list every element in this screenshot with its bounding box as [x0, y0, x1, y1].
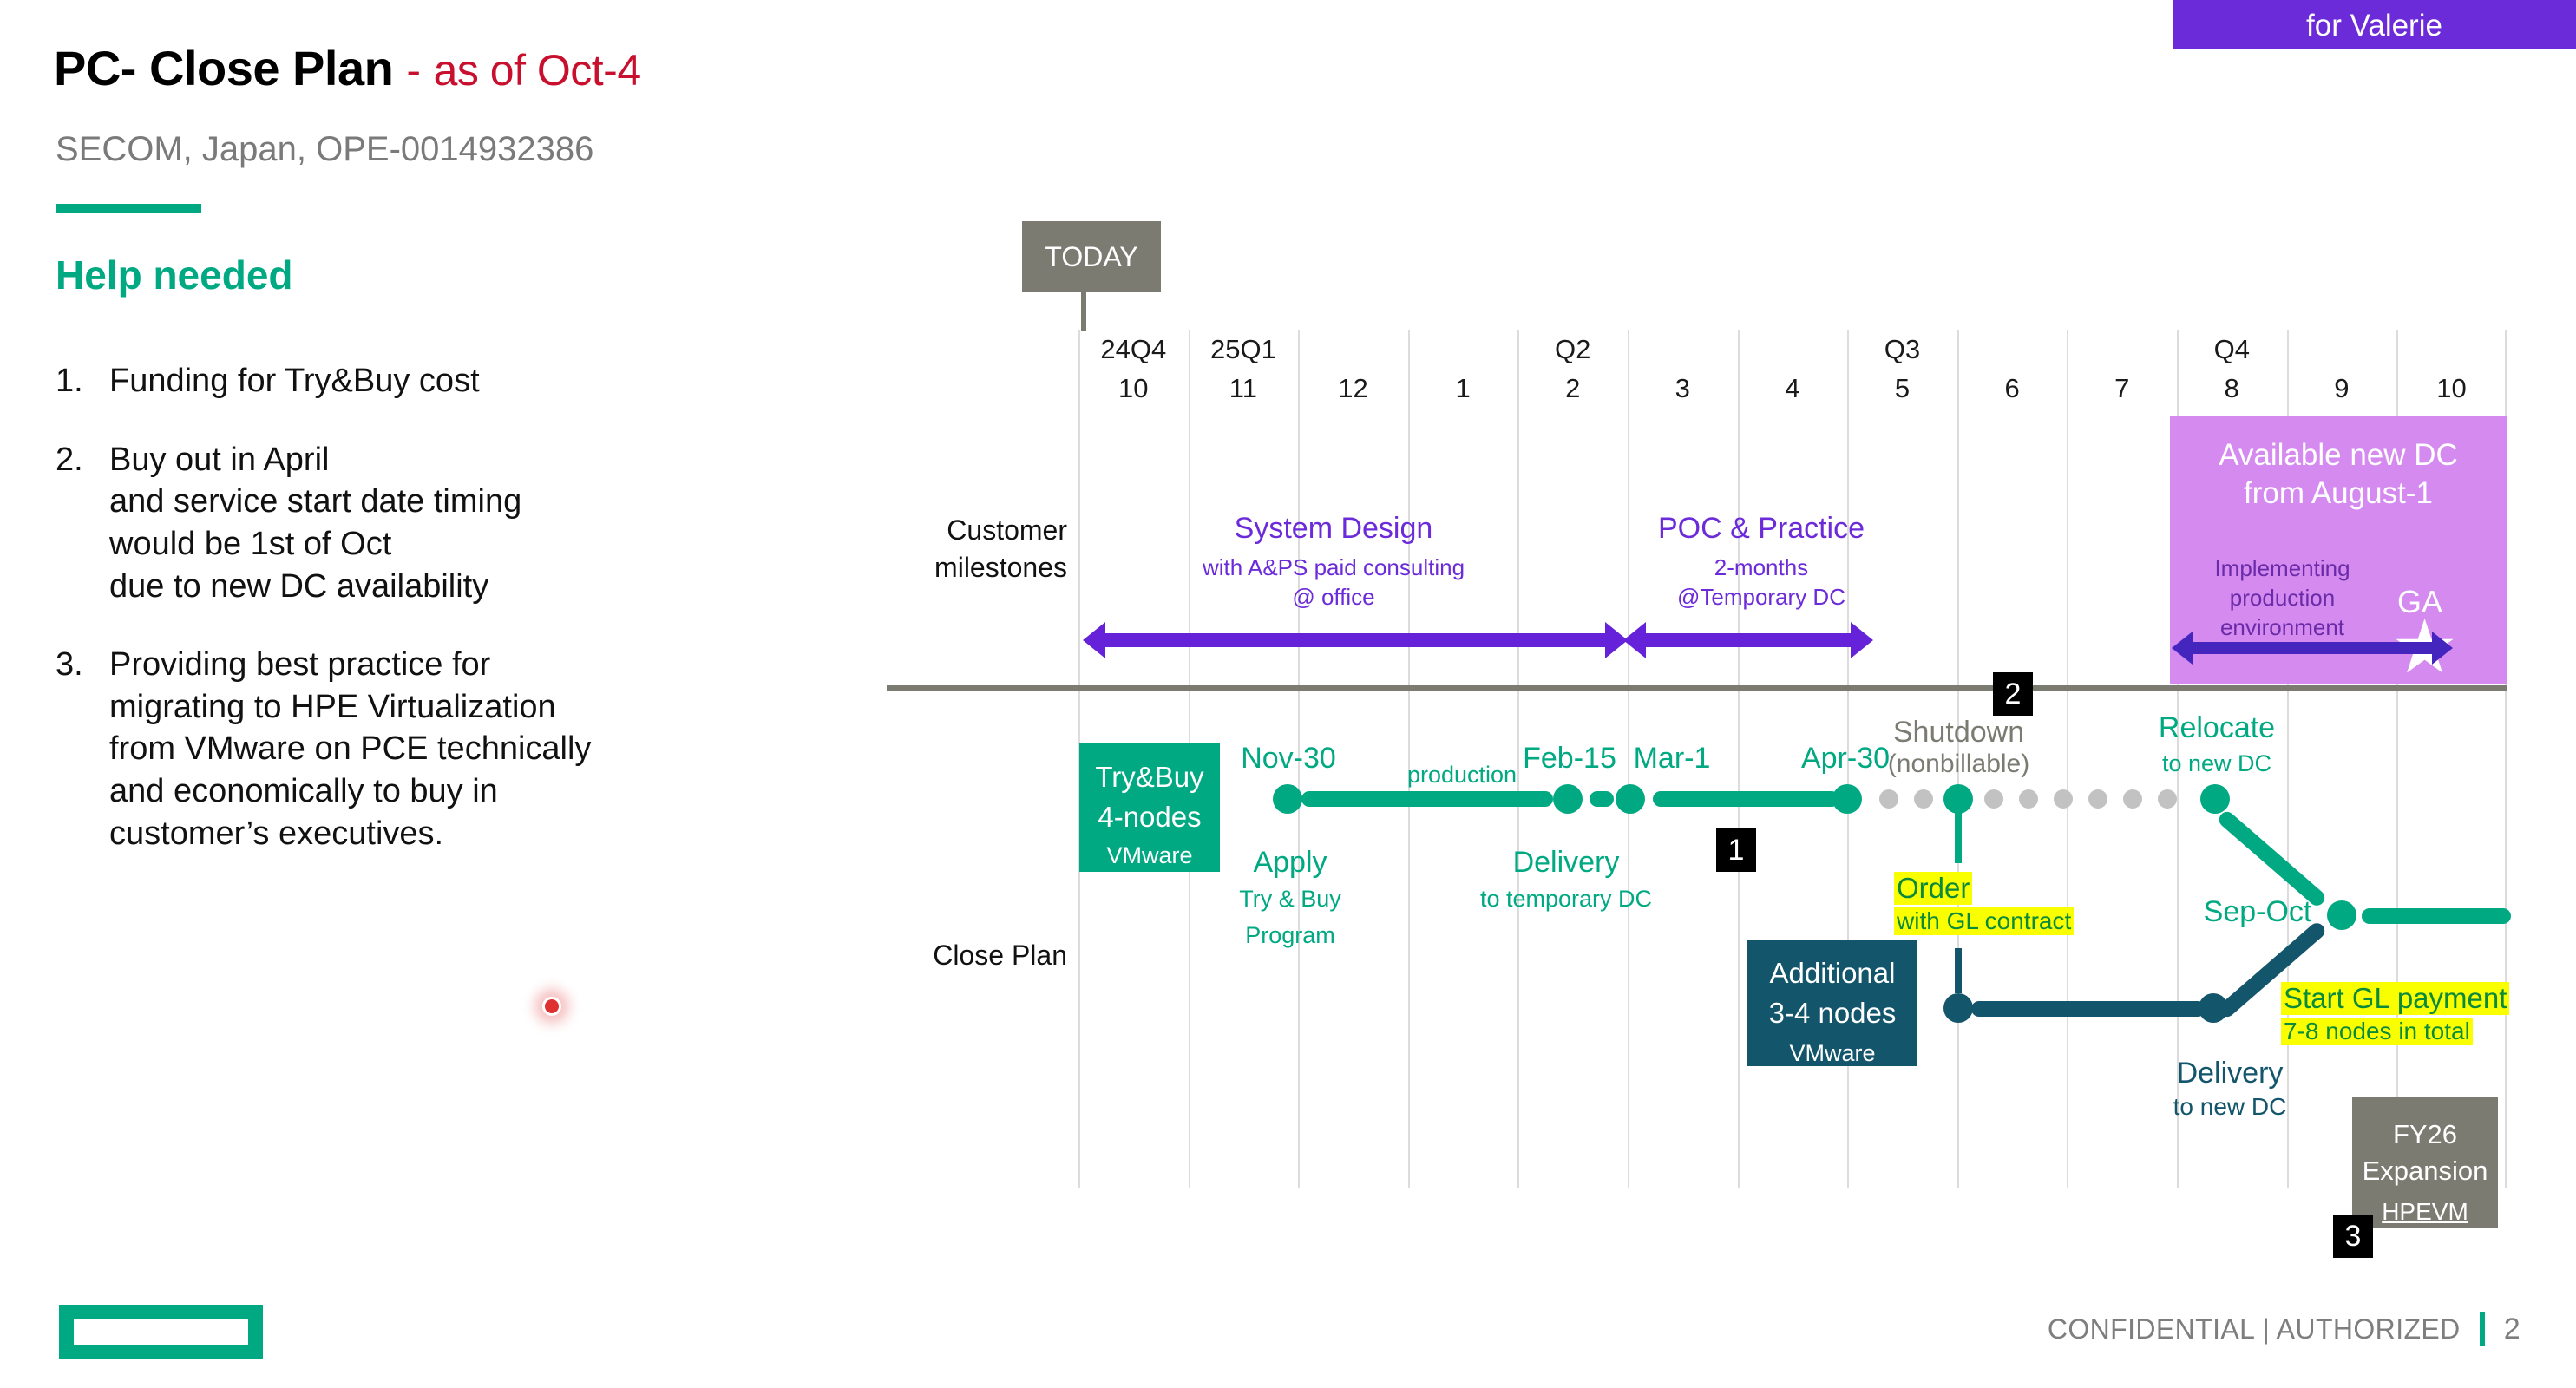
month-label: 10: [1078, 373, 1189, 404]
month-label: 8: [2177, 373, 2287, 404]
label-delivery-temp: Delivery: [1458, 846, 1675, 880]
track-bar-mar-to-apr: [1653, 791, 1839, 807]
fy26-line3: HPEVM: [2352, 1198, 2498, 1226]
trybuy-line1: Try&Buy: [1079, 757, 1220, 797]
quarter-label: Q2: [1517, 334, 1628, 365]
today-badge: TODAY: [1022, 221, 1161, 292]
row-label-line: milestones: [876, 549, 1067, 586]
list-item-line: and economically to buy in: [109, 770, 591, 813]
dc-box-note-line: Implementing: [2189, 554, 2376, 584]
row-label-close-plan: Close Plan: [876, 937, 1067, 974]
mouse-cursor-indicator: [542, 997, 561, 1016]
month-label: 1: [1408, 373, 1518, 404]
list-item: 3. Providing best practice for migrating…: [56, 644, 880, 854]
step-badge-3: 3: [2333, 1214, 2373, 1258]
track-bar-feb-to-mar: [1590, 791, 1614, 807]
page-subtitle: SECOM, Japan, OPE-0014932386: [56, 130, 593, 169]
additional-nodes-bar: [1971, 1001, 2206, 1017]
shutdown-line1: Shutdown: [1848, 716, 2069, 750]
label-apply-sub1: Try & Buy: [1208, 883, 1373, 914]
dc-box-line1: Available new DC: [2170, 436, 2507, 475]
label-apply-sub2: Program: [1208, 920, 1373, 951]
order-note-line1: Order: [1894, 872, 1972, 905]
list-item-line: would be 1st of Oct: [109, 523, 521, 566]
milestone-dot-apr-30: [1832, 784, 1862, 814]
help-needed-list: 1. Funding for Try&Buy cost 2. Buy out i…: [56, 360, 880, 891]
milestone-system-design: System Design with A&PS paid consulting …: [1147, 512, 1520, 612]
step-badge-1: 1: [1716, 828, 1756, 872]
list-item: 2. Buy out in April and service start da…: [56, 439, 880, 608]
milestone-title: POC & Practice: [1592, 512, 1930, 546]
dc-box-note: Implementing production environment: [2189, 554, 2376, 642]
quarter-label: 24Q4: [1078, 334, 1189, 365]
gl-payment-note: Start GL payment 7-8 nodes in total: [2281, 982, 2524, 1045]
poc-practice-arrow: [1644, 633, 1852, 647]
order-note-line2: with GL contract: [1894, 907, 2074, 935]
footer: CONFIDENTIAL | AUTHORIZED 2: [2048, 1312, 2520, 1346]
order-note: Order with GL contract: [1894, 872, 2102, 935]
list-item-line: and service start date timing: [109, 481, 521, 523]
milestone-dot-relocate: [2200, 784, 2230, 814]
shutdown-stem-lower: [1955, 948, 1962, 993]
milestone-title: System Design: [1147, 512, 1520, 546]
month-label: 4: [1738, 373, 1848, 404]
month-label: 9: [2287, 373, 2397, 404]
title-asof: as of Oct-4: [434, 46, 641, 95]
valerie-badge: as of October-4 for Valerie: [2173, 0, 2576, 49]
valerie-badge-line2: for Valerie: [2173, 5, 2576, 47]
month-label: 2: [1517, 373, 1628, 404]
list-item-body: Providing best practice for migrating to…: [109, 644, 591, 854]
additional-line2: 3-4 nodes: [1747, 993, 1917, 1033]
milestone-sub2: @ office: [1147, 582, 1520, 612]
title-dash: -: [406, 46, 420, 95]
title-main: PC- Close Plan: [54, 41, 393, 95]
milestone-sub2: @Temporary DC: [1592, 582, 1930, 612]
dc-box-note-line: environment: [2189, 613, 2376, 643]
list-item: 1. Funding for Try&Buy cost: [56, 360, 880, 403]
today-stem: [1081, 292, 1086, 331]
additional-nodes-start-dot: [1943, 993, 1973, 1023]
label-apply: Apply: [1208, 846, 1373, 880]
label-delivery-temp-sub: to temporary DC: [1432, 883, 1701, 914]
fy26-expansion-box: FY26 Expansion HPEVM: [2352, 1097, 2498, 1228]
date-label-nov-30: Nov-30: [1206, 742, 1371, 776]
system-design-arrow: [1104, 633, 1607, 647]
month-label: 7: [2067, 373, 2177, 404]
step-badge-2: 2: [1993, 672, 2033, 716]
additional-nodes-box: Additional 3-4 nodes VMware: [1747, 940, 1917, 1066]
footer-separator: [2480, 1312, 2485, 1346]
fy26-line1: FY26: [2352, 1116, 2498, 1153]
quarter-label: 25Q1: [1189, 334, 1299, 365]
track-bar-sep-oct-right: [2362, 908, 2511, 924]
milestone-poc-practice: POC & Practice 2-months @Temporary DC: [1592, 512, 1930, 612]
hpe-logo: [59, 1305, 263, 1359]
month-label: 12: [1298, 373, 1408, 404]
list-item-line: due to new DC availability: [109, 566, 521, 608]
timeline-month-header: 10 11 12 1 2 3 4 5 6 7 8 9 10: [1078, 373, 2507, 412]
milestone-dot-shutdown: [1943, 784, 1973, 814]
row-label-customer-milestones: Customer milestones: [876, 512, 1067, 586]
relocate-sub: to new DC: [2130, 748, 2304, 779]
fy26-line2: Expansion: [2352, 1153, 2498, 1189]
delivery-new-dc-sub: to new DC: [2130, 1093, 2330, 1121]
month-label: 11: [1189, 373, 1299, 404]
month-label: 10: [2396, 373, 2507, 404]
list-item-line: Buy out in April: [109, 439, 521, 481]
dc-box-line2: from August-1: [2170, 475, 2507, 513]
page-title: PC- Close Plan - as of Oct-4: [54, 40, 641, 96]
month-label: 5: [1847, 373, 1957, 404]
list-item-line: migrating to HPE Virtualization: [109, 686, 591, 729]
list-item-body: Buy out in April and service start date …: [109, 439, 521, 608]
list-item-line: Funding for Try&Buy cost: [109, 360, 480, 403]
list-item-number: 2.: [56, 439, 109, 608]
month-label: 6: [1957, 373, 2068, 404]
track-bar-nov-to-feb: [1301, 791, 1553, 807]
trybuy-line3: VMware: [1079, 842, 1220, 869]
list-item-number: 3.: [56, 644, 109, 854]
implementing-production-arrow: [2191, 642, 2434, 654]
month-label: 3: [1628, 373, 1738, 404]
milestone-dot-nov-30: [1273, 784, 1302, 814]
additional-line1: Additional: [1747, 953, 1917, 993]
timeline-quarter-header: 24Q4 25Q1 Q2 Q3 Q4: [1078, 334, 2507, 373]
row-divider: [887, 685, 2507, 691]
list-item-line: customer’s executives.: [109, 813, 591, 855]
trybuy-line2: 4-nodes: [1079, 797, 1220, 837]
shutdown-stem-upper: [1955, 811, 1962, 863]
quarter-label: Q3: [1847, 334, 1957, 365]
classification-label: CONFIDENTIAL | AUTHORIZED: [2048, 1313, 2461, 1345]
shutdown-label: Shutdown (nonbillable): [1848, 716, 2069, 779]
list-item-body: Funding for Try&Buy cost: [109, 360, 480, 403]
dc-box-note-line: production: [2189, 584, 2376, 613]
gl-payment-line2: 7-8 nodes in total: [2281, 1018, 2473, 1045]
row-label-line: Customer: [876, 512, 1067, 549]
date-label-mar-1: Mar-1: [1590, 742, 1754, 776]
page-number: 2: [2504, 1313, 2520, 1346]
list-item-number: 1.: [56, 360, 109, 403]
additional-line3: VMware: [1747, 1040, 1917, 1067]
accent-rule: [56, 204, 201, 213]
slide-canvas: as of October-4 for Valerie PC- Close Pl…: [0, 0, 2576, 1388]
shutdown-line2: (nonbillable): [1848, 750, 2069, 779]
list-item-line: Providing best practice for: [109, 644, 591, 686]
section-heading: Help needed: [56, 252, 293, 298]
relocate-label: Relocate: [2130, 711, 2304, 745]
list-item-line: from VMware on PCE technically: [109, 728, 591, 770]
delivery-new-dc-label: Delivery: [2130, 1057, 2330, 1090]
milestone-dot-mar-1: [1616, 784, 1645, 814]
quarter-label: Q4: [2177, 334, 2287, 365]
gl-payment-line1: Start GL payment: [2281, 982, 2509, 1015]
milestone-sub1: 2-months: [1592, 553, 1930, 582]
trybuy-4nodes-box: Try&Buy 4-nodes VMware: [1079, 743, 1220, 872]
milestone-sub1: with A&PS paid consulting: [1147, 553, 1520, 582]
